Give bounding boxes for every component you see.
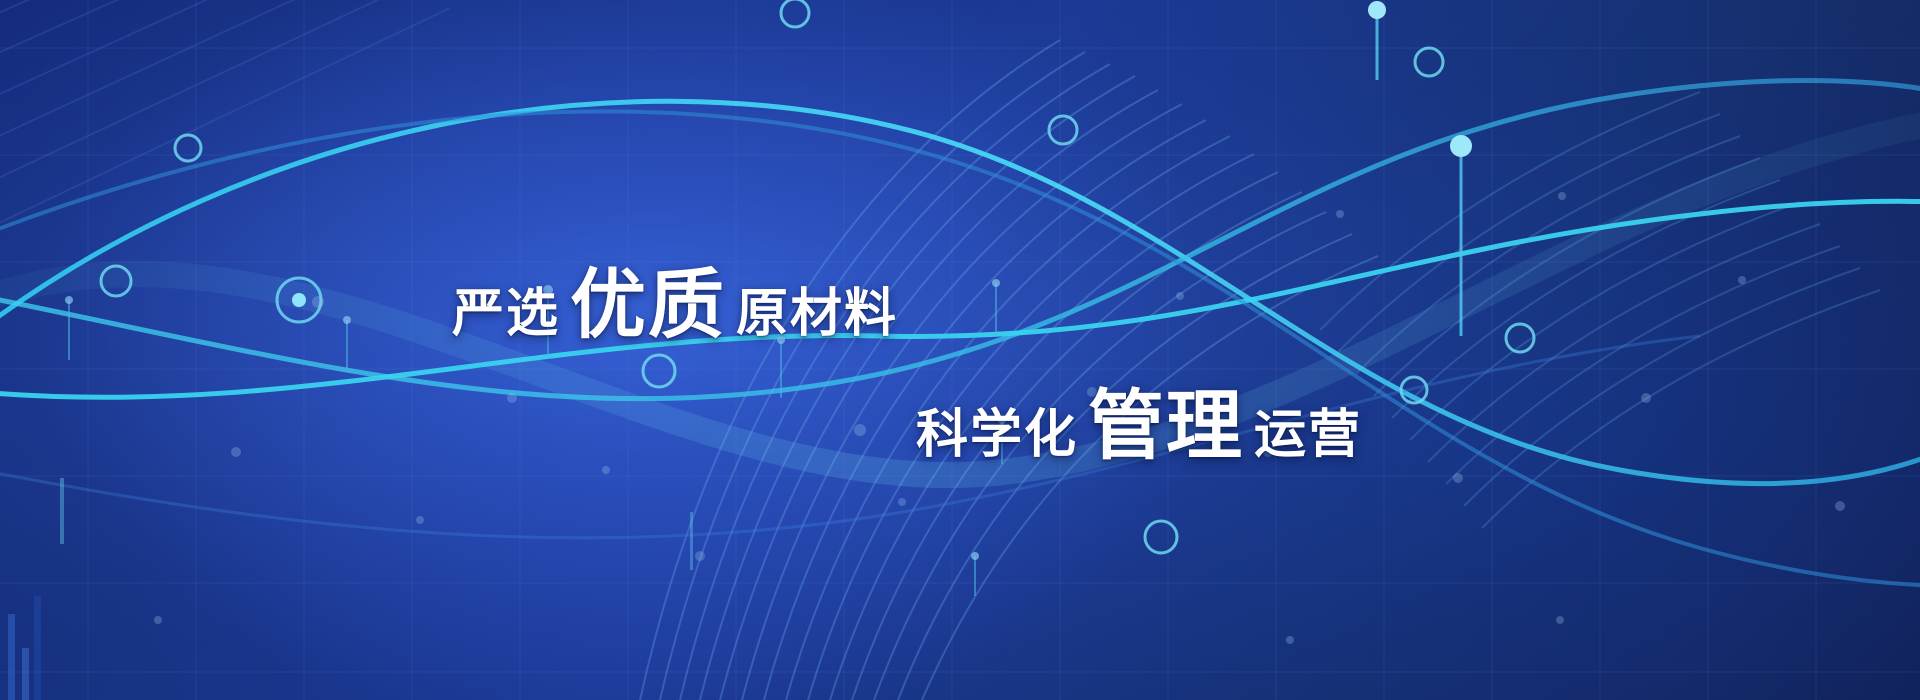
- ring-center-dot: [292, 293, 306, 307]
- background-graphics: [0, 0, 1920, 700]
- marketing-banner: 严选优质原材料 科学化管理运营: [0, 0, 1920, 700]
